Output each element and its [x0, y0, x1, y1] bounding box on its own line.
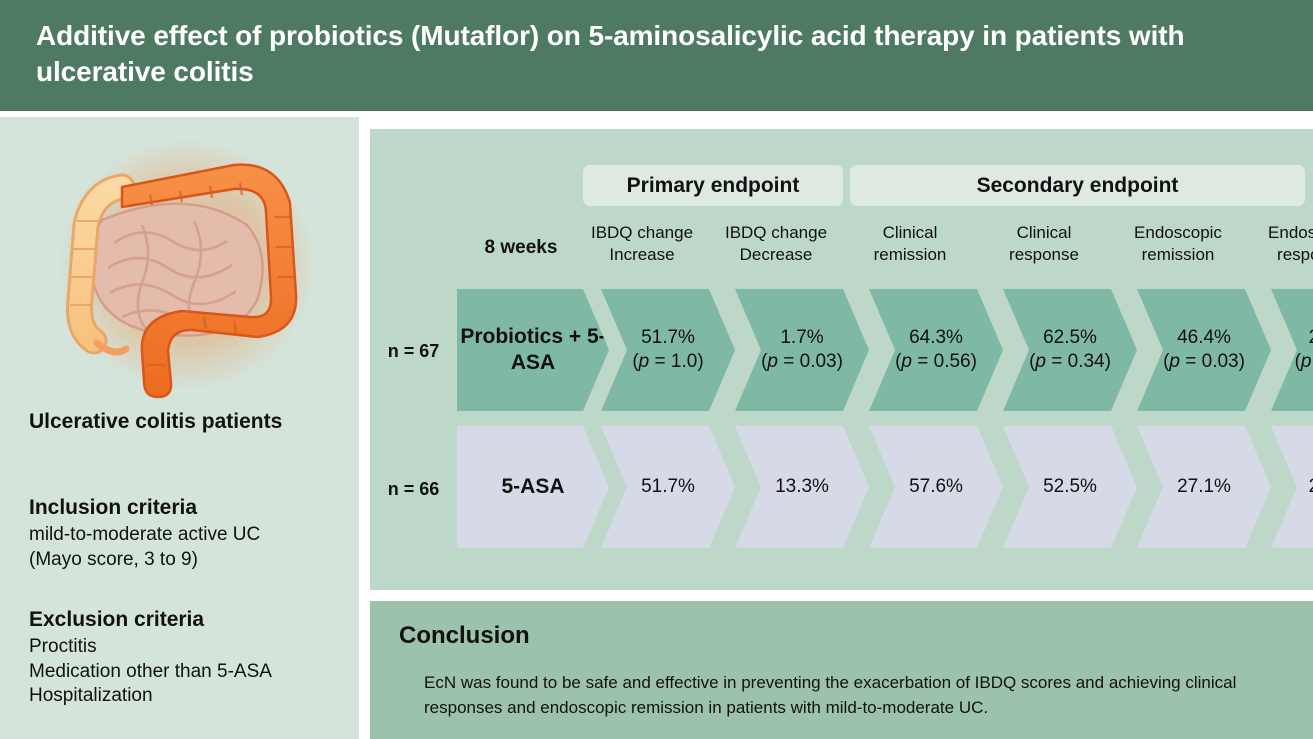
column-header-ibdq-decrease: IBDQ change Decrease [717, 222, 835, 266]
n-label-asa: n = 66 [370, 479, 457, 500]
column-header-endoscopic-remission: Endoscopic remission [1119, 222, 1237, 266]
cell-probiotics-endoscopic-response: 23.2% (p = 0.82) [1271, 289, 1313, 411]
row-label-cell-probiotics: Probiotics + 5-ASA [457, 289, 609, 411]
cell-asa-endoscopic-remission: 27.1% [1137, 426, 1271, 548]
column-header-ibdq-increase: IBDQ change Increase [583, 222, 701, 266]
column-header-clinical-remission: Clinical remission [851, 222, 969, 266]
value: 13.3% [775, 475, 829, 499]
sidebar-exclusion-heading: Exclusion criteria [29, 607, 204, 633]
cell-probiotics-endoscopic-remission: 46.4% (p = 0.03) [1137, 289, 1271, 411]
column-header-clinical-response: Clinical response [985, 222, 1103, 266]
value: 62.5% [1043, 326, 1097, 350]
column-header-endoscopic-response: Endoscopic response [1253, 222, 1313, 266]
cell-asa-clinical-remission: 57.6% [869, 426, 1003, 548]
conclusion-heading: Conclusion [399, 622, 530, 650]
sidebar-inclusion-heading: Inclusion criteria [29, 495, 197, 521]
conclusion-panel: Conclusion EcN was found to be safe and … [370, 601, 1313, 739]
value: 51.7% [641, 475, 695, 499]
value: 20.3% [1309, 475, 1313, 499]
p-value: (p = 1.0) [632, 350, 703, 374]
colon-illustration [22, 125, 342, 405]
sidebar-inclusion-body: mild-to-moderate active UC (Mayo score, … [29, 523, 260, 572]
sidebar-patients-heading: Ulcerative colitis patients [29, 409, 282, 435]
p-value: (p = 0.34) [1029, 350, 1111, 374]
table-row-asa: 5-ASA 51.7% 13.3% 57.6% 52.5% 27.1% 20.3… [457, 426, 1313, 548]
cell-asa-endoscopic-response: 20.3% [1271, 426, 1313, 548]
cell-probiotics-ibdq-decrease: 1.7% (p = 0.03) [735, 289, 869, 411]
results-panel: Primary endpoint Secondary endpoint 8 we… [370, 129, 1313, 590]
table-row-probiotics: Probiotics + 5-ASA 51.7% (p = 1.0) 1.7% … [457, 289, 1313, 411]
value: 23.2% [1309, 326, 1313, 350]
value: 1.7% [780, 326, 823, 350]
value: 57.6% [909, 475, 963, 499]
p-value: (p = 0.03) [761, 350, 843, 374]
cell-asa-ibdq-decrease: 13.3% [735, 426, 869, 548]
value: 46.4% [1177, 326, 1231, 350]
sidebar-exclusion-body: Proctitis Medication other than 5-ASA Ho… [29, 635, 272, 709]
title-band: Additive effect of probiotics (Mutaflor)… [0, 0, 1313, 111]
sidebar-panel: Ulcerative colitis patients Inclusion cr… [0, 117, 359, 739]
value: 52.5% [1043, 475, 1097, 499]
p-value: (p = 0.56) [895, 350, 977, 374]
colon-icon [22, 125, 342, 405]
value: 64.3% [909, 326, 963, 350]
row-label-cell-asa: 5-ASA [457, 426, 609, 548]
row-label-probiotics: Probiotics + 5-ASA [457, 324, 609, 375]
row-label-asa: 5-ASA [501, 474, 564, 500]
p-value: (p = 0.03) [1163, 350, 1245, 374]
n-label-probiotics: n = 67 [370, 341, 457, 362]
timepoint-label: 8 weeks [475, 237, 567, 259]
cell-probiotics-clinical-remission: 64.3% (p = 0.56) [869, 289, 1003, 411]
value: 27.1% [1177, 475, 1231, 499]
cell-asa-ibdq-increase: 51.7% [601, 426, 735, 548]
value: 51.7% [641, 326, 695, 350]
graphical-abstract: Additive effect of probiotics (Mutaflor)… [0, 0, 1313, 739]
cell-probiotics-clinical-response: 62.5% (p = 0.34) [1003, 289, 1137, 411]
p-value: (p = 0.82) [1295, 350, 1313, 374]
cell-probiotics-ibdq-increase: 51.7% (p = 1.0) [601, 289, 735, 411]
endpoint-group-secondary: Secondary endpoint [850, 165, 1305, 206]
conclusion-body: EcN was found to be safe and effective i… [424, 671, 1290, 720]
cell-asa-clinical-response: 52.5% [1003, 426, 1137, 548]
endpoint-group-primary: Primary endpoint [583, 165, 843, 206]
page-title: Additive effect of probiotics (Mutaflor)… [36, 18, 1276, 91]
